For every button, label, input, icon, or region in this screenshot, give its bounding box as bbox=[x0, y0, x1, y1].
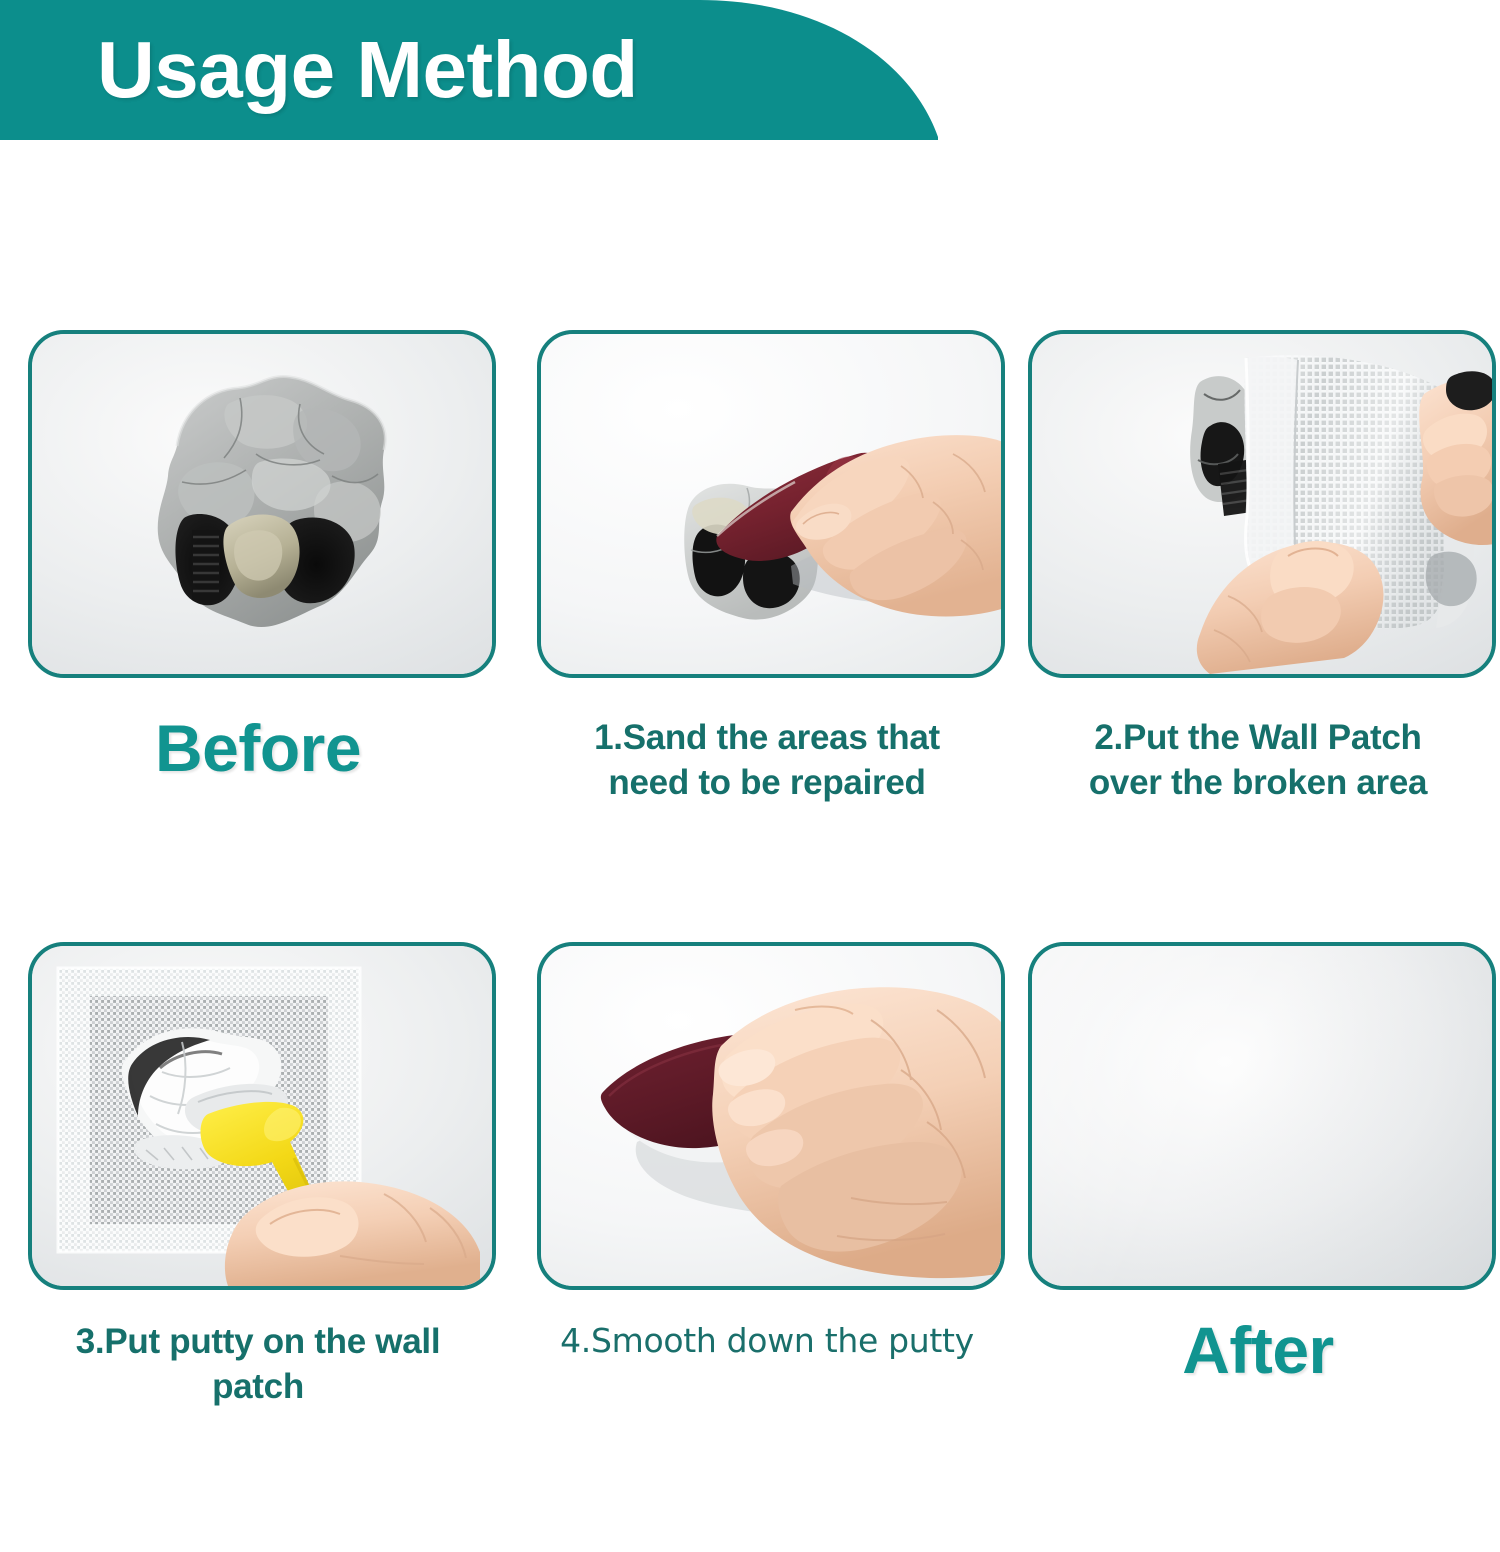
damaged-wall-hole-photo bbox=[32, 334, 492, 674]
caption-before: Before bbox=[28, 706, 488, 790]
caption-step-1-line2: need to be repaired bbox=[537, 761, 997, 806]
photo-frame-step-1 bbox=[537, 330, 1005, 678]
sanding-damaged-area-photo bbox=[541, 334, 1001, 674]
caption-step-1: 1.Sand the areas that need to be repaire… bbox=[537, 716, 997, 806]
repaired-wall-photo bbox=[1032, 946, 1492, 1286]
applying-wall-patch-photo bbox=[1032, 334, 1492, 674]
step-card-3[interactable]: 3.Put putty on the wall patch bbox=[28, 942, 498, 1410]
steps-row-bottom: 3.Put putty on the wall patch bbox=[0, 942, 1500, 1552]
photo-frame-step-2 bbox=[1028, 330, 1496, 678]
page-title: Usage Method bbox=[97, 18, 638, 122]
steps-grid: Before bbox=[0, 330, 1500, 1552]
caption-after: After bbox=[1028, 1308, 1488, 1392]
step-card-1[interactable]: 1.Sand the areas that need to be repaire… bbox=[537, 330, 1007, 806]
photo-frame-step-4 bbox=[537, 942, 1005, 1290]
header-banner: Usage Method bbox=[0, 0, 945, 140]
caption-step-2-line2: over the broken area bbox=[1028, 761, 1488, 806]
applying-putty-photo bbox=[32, 946, 492, 1286]
step-card-after[interactable]: After bbox=[1028, 942, 1498, 1392]
caption-step-2-line1: 2.Put the Wall Patch bbox=[1028, 716, 1488, 761]
caption-step-3: 3.Put putty on the wall patch bbox=[28, 1320, 488, 1410]
step-card-before[interactable]: Before bbox=[28, 330, 498, 790]
photo-frame-after bbox=[1028, 942, 1496, 1290]
photo-frame-before bbox=[28, 330, 496, 678]
photo-frame-step-3 bbox=[28, 942, 496, 1290]
caption-step-4: 4.Smooth down the putty bbox=[537, 1320, 997, 1362]
smoothing-putty-photo bbox=[541, 946, 1001, 1286]
caption-step-1-line1: 1.Sand the areas that bbox=[537, 716, 997, 761]
steps-row-top: Before bbox=[0, 330, 1500, 940]
step-card-2[interactable]: 2.Put the Wall Patch over the broken are… bbox=[1028, 330, 1498, 806]
step-card-4[interactable]: 4.Smooth down the putty bbox=[537, 942, 1007, 1362]
caption-step-2: 2.Put the Wall Patch over the broken are… bbox=[1028, 716, 1488, 806]
